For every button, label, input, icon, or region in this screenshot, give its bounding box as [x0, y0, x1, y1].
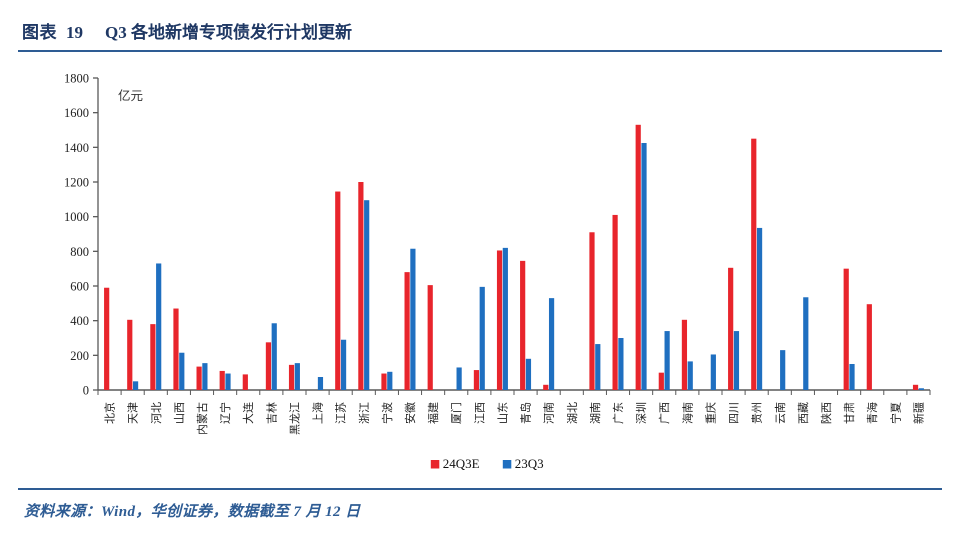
page-title: Q3 各地新增专项债发行计划更新 [105, 18, 352, 43]
x-axis-category-text: 新疆 [911, 402, 925, 424]
bar-23q3 [665, 331, 670, 390]
bar-23q3 [688, 361, 693, 390]
x-axis-category-label: 江西 [473, 402, 486, 424]
bar-23q3 [341, 340, 346, 390]
x-axis-category-label: 吉林 [264, 402, 278, 424]
bar-24q3e [659, 373, 664, 390]
source-note: 资料来源：Wind，华创证券，数据截至 7 月 12 日 [24, 500, 361, 521]
bar-23q3 [549, 298, 554, 390]
bar-24q3e [243, 374, 248, 390]
x-axis-category-label: 内蒙古 [195, 402, 209, 435]
bar-24q3e [543, 385, 548, 390]
x-axis-category-text: 江苏 [335, 402, 348, 424]
bar-24q3e [682, 320, 687, 390]
legend-label-24q3e: 24Q3E [443, 456, 480, 471]
legend-swatch-24q3e [431, 460, 440, 469]
footer-divider [18, 488, 942, 490]
bar-23q3 [202, 363, 207, 390]
figure-title-row: 图表 19 Q3 各地新增专项债发行计划更新 [18, 18, 942, 43]
x-axis-category-label: 青岛 [519, 402, 533, 424]
bar-24q3e [428, 285, 433, 390]
legend-label-23q3: 23Q3 [515, 456, 544, 471]
x-axis-category-text: 陕西 [819, 402, 833, 424]
bar-23q3 [757, 228, 762, 390]
bar-24q3e [358, 182, 363, 390]
x-axis-category-text: 福建 [426, 402, 440, 424]
x-axis-category-text: 大连 [241, 402, 255, 424]
x-axis-category-text: 贵州 [751, 402, 764, 424]
x-axis-category-label: 西藏 [797, 402, 810, 424]
x-axis-category-text: 广东 [612, 402, 625, 424]
x-axis-category-text: 江西 [473, 402, 486, 424]
x-axis-category-text: 西藏 [797, 402, 810, 424]
bar-24q3e [867, 304, 872, 390]
x-axis-category-text: 甘肃 [843, 402, 856, 424]
bar-23q3 [803, 297, 808, 390]
x-axis-category-text: 厦门 [449, 402, 463, 424]
bar-24q3e [104, 288, 109, 390]
x-axis-category-text: 宁夏 [888, 402, 902, 424]
y-axis-tick-label: 1000 [64, 210, 89, 224]
bar-23q3 [133, 381, 138, 390]
x-axis-category-label: 青海 [865, 402, 879, 424]
figure-page: 图表 19 Q3 各地新增专项债发行计划更新 02004006008001000… [0, 0, 960, 544]
y-axis-tick-label: 400 [70, 314, 89, 328]
x-axis-category-text: 湖北 [566, 402, 579, 424]
x-axis-category-label: 大连 [241, 402, 255, 424]
x-axis-category-text: 宁波 [380, 402, 394, 424]
bar-24q3e [335, 192, 340, 390]
x-axis-category-label: 福建 [426, 402, 440, 424]
bar-chart: 020040060080010001200140016001800亿元北京天津河… [18, 60, 942, 480]
x-axis-category-label: 浙江 [358, 402, 371, 424]
x-axis-category-text: 北京 [103, 402, 117, 424]
x-axis-category-label: 山东 [496, 402, 509, 424]
x-axis-category-text: 浙江 [358, 402, 371, 424]
x-axis-category-text: 吉林 [264, 402, 278, 424]
bar-24q3e [520, 261, 525, 390]
y-axis-tick-label: 1400 [64, 141, 89, 155]
figure-number: 19 [66, 23, 83, 43]
bar-24q3e [613, 215, 618, 390]
x-axis-category-label: 陕西 [819, 402, 833, 424]
figure-label: 图表 [22, 18, 57, 43]
x-axis-category-text: 上海 [311, 402, 325, 424]
bar-23q3 [387, 372, 392, 390]
bar-24q3e [913, 385, 918, 390]
y-axis-tick-label: 1200 [64, 176, 89, 190]
x-axis-category-label: 贵州 [751, 402, 764, 424]
x-axis-category-label: 重庆 [703, 402, 717, 424]
bar-24q3e [173, 309, 178, 390]
bar-23q3 [225, 374, 230, 390]
chart-svg: 020040060080010001200140016001800亿元北京天津河… [18, 60, 942, 480]
x-axis-category-label: 甘肃 [843, 402, 856, 424]
bar-23q3 [480, 287, 485, 390]
x-axis-category-text: 湖南 [589, 402, 602, 424]
x-axis-category-text: 辽宁 [218, 402, 232, 424]
title-divider [18, 50, 942, 52]
x-axis-category-label: 河南 [543, 402, 556, 424]
x-axis-category-label: 云南 [774, 402, 787, 424]
x-axis-category-text: 广西 [658, 402, 671, 424]
y-axis-tick-label: 600 [70, 280, 89, 294]
bar-23q3 [503, 248, 508, 390]
bar-24q3e [589, 232, 594, 390]
bar-23q3 [410, 249, 415, 390]
x-axis-category-label: 宁夏 [888, 402, 902, 424]
bar-23q3 [919, 388, 924, 390]
y-axis-tick-label: 1600 [64, 106, 89, 120]
x-axis-category-text: 青岛 [519, 402, 533, 424]
x-axis-category-label: 山西 [173, 402, 186, 424]
x-axis-category-label: 宁波 [380, 402, 394, 424]
y-axis-tick-label: 0 [83, 384, 89, 398]
bar-24q3e [497, 250, 502, 390]
bar-24q3e [289, 365, 294, 390]
bar-24q3e [636, 125, 641, 390]
x-axis-category-text: 黑龙江 [288, 402, 301, 435]
x-axis-category-text: 四川 [729, 402, 741, 424]
x-axis-category-label: 安徽 [403, 402, 417, 424]
bar-23q3 [364, 200, 369, 390]
bar-23q3 [295, 363, 300, 390]
x-axis-category-text: 山西 [173, 402, 186, 424]
bar-23q3 [618, 338, 623, 390]
x-axis-category-text: 天津 [127, 402, 140, 424]
x-axis-category-label: 海南 [680, 402, 694, 424]
x-axis-category-label: 湖南 [589, 402, 602, 424]
x-axis-category-text: 山东 [496, 402, 509, 424]
x-axis-category-label: 广东 [612, 402, 625, 424]
x-axis-category-text: 重庆 [703, 402, 717, 424]
bar-23q3 [156, 263, 161, 390]
legend-swatch-23q3 [503, 460, 512, 469]
bar-24q3e [197, 367, 202, 390]
x-axis-category-text: 青海 [865, 402, 879, 424]
x-axis-category-text: 内蒙古 [195, 402, 209, 435]
bar-23q3 [734, 331, 739, 390]
x-axis-category-text: 安徽 [403, 402, 417, 424]
bar-23q3 [526, 359, 531, 390]
bar-23q3 [849, 364, 854, 390]
x-axis-category-label: 新疆 [911, 402, 925, 424]
bar-23q3 [780, 350, 785, 390]
x-axis-category-label: 上海 [311, 402, 325, 424]
x-axis-category-label: 湖北 [566, 402, 579, 424]
bar-23q3 [318, 377, 323, 390]
y-axis-tick-label: 800 [70, 245, 89, 259]
x-axis-category-label: 辽宁 [218, 402, 232, 424]
bar-24q3e [751, 139, 756, 390]
x-axis-category-text: 河南 [543, 402, 556, 424]
bar-23q3 [595, 344, 600, 390]
x-axis-category-label: 河北 [150, 402, 163, 424]
x-axis-category-label: 深圳 [635, 402, 648, 424]
bar-24q3e [405, 272, 410, 390]
x-axis-category-text: 海南 [680, 402, 694, 424]
y-axis-tick-label: 200 [70, 349, 89, 363]
bar-23q3 [711, 354, 716, 390]
bar-24q3e [127, 320, 132, 390]
bar-24q3e [266, 342, 271, 390]
x-axis-category-label: 北京 [103, 402, 117, 424]
x-axis-category-label: 天津 [127, 402, 140, 424]
x-axis-category-label: 厦门 [449, 402, 463, 424]
bar-24q3e [474, 370, 479, 390]
bar-24q3e [220, 371, 225, 390]
bar-24q3e [728, 268, 733, 390]
bar-24q3e [844, 269, 849, 390]
y-axis-tick-label: 1800 [64, 72, 89, 86]
x-axis-category-text: 云南 [774, 402, 787, 424]
bar-23q3 [272, 323, 277, 390]
x-axis-category-text: 河北 [150, 402, 163, 424]
x-axis-category-label: 广西 [658, 402, 671, 424]
x-axis-category-label: 四川 [729, 402, 741, 424]
y-axis-unit-label: 亿元 [118, 88, 143, 103]
figure-header: 图表 19 Q3 各地新增专项债发行计划更新 [18, 18, 942, 52]
x-axis-category-label: 黑龙江 [288, 402, 301, 435]
x-axis-category-label: 江苏 [335, 402, 348, 424]
x-axis-category-text: 深圳 [635, 402, 648, 424]
chart-container: 020040060080010001200140016001800亿元北京天津河… [18, 60, 942, 480]
bar-24q3e [381, 374, 386, 390]
bar-23q3 [179, 353, 184, 390]
bar-23q3 [457, 367, 462, 390]
bar-23q3 [641, 143, 646, 390]
bar-24q3e [150, 324, 155, 390]
